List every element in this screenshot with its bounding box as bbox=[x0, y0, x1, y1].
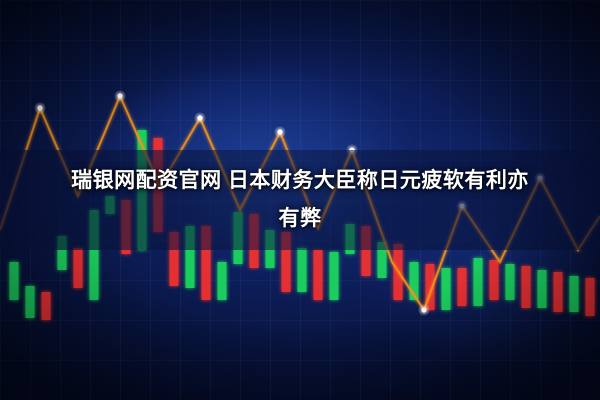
headline-text: 瑞银网配资官网 日本财务大臣称日元疲软有利亦 有弊 bbox=[0, 150, 600, 250]
headline-line-1: 瑞银网配资官网 日本财务大臣称日元疲软有利亦 bbox=[71, 162, 529, 200]
news-thumbnail-image: 瑞银网配资官网 日本财务大臣称日元疲软有利亦 有弊 bbox=[0, 0, 600, 400]
headline-line-2: 有弊 bbox=[279, 200, 322, 238]
